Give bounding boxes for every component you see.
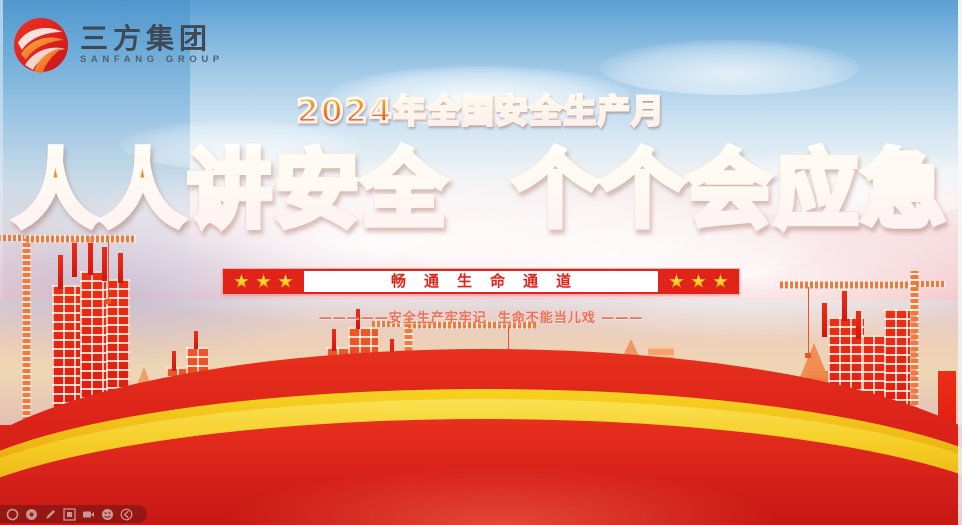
sanfang-swoosh-logo-icon — [12, 16, 70, 74]
star-icon — [691, 274, 706, 289]
right-edge-strip — [958, 0, 962, 525]
emoji-icon[interactable] — [101, 508, 114, 521]
left-edge-highlight — [0, 0, 3, 300]
star-icon — [669, 274, 684, 289]
brand-name-en: SANFANG GROUP — [80, 55, 224, 65]
star-icon — [234, 274, 249, 289]
poster-tagline: —————安全生产牢牢记 生命不能当儿戏 ——— — [0, 307, 962, 326]
lens-circle-icon[interactable] — [6, 508, 19, 521]
record-icon[interactable] — [25, 508, 38, 521]
ground-sheen — [220, 465, 780, 525]
star-icon — [713, 274, 728, 289]
slogan-banner: 畅通生命通道 — [222, 268, 740, 295]
building-column — [194, 331, 198, 349]
stars-right — [658, 274, 739, 289]
building-spire — [800, 343, 828, 377]
stars-left — [223, 274, 304, 289]
crop-frame-icon[interactable] — [63, 508, 76, 521]
pencil-edit-icon[interactable] — [44, 508, 57, 521]
player-toolbar[interactable] — [0, 505, 147, 523]
poster-kicker: 2024年全国安全生产月 — [0, 95, 962, 127]
slogan-banner-body: 畅通生命通道 — [304, 271, 658, 292]
brand-name-block: 三方集团 SANFANG GROUP — [80, 25, 224, 65]
building-column — [332, 329, 336, 351]
share-icon[interactable] — [120, 508, 133, 521]
star-icon — [278, 274, 293, 289]
brand-name-cn: 三方集团 — [80, 25, 224, 53]
safety-production-month-poster: 三方集团 SANFANG GROUP 2024年全国安全生产月 人人讲安全 个个… — [0, 0, 962, 525]
brand-logo: 三方集团 SANFANG GROUP — [12, 16, 224, 74]
video-camera-icon[interactable] — [82, 508, 95, 521]
slogan-banner-text: 畅通生命通道 — [373, 274, 589, 289]
building-column — [172, 351, 176, 371]
poster-headline: 人人讲安全 个个会应急 — [0, 148, 962, 232]
star-icon — [256, 274, 271, 289]
